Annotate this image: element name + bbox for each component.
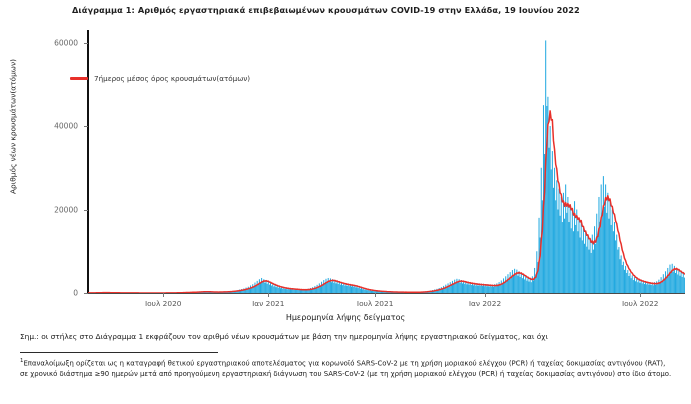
bar xyxy=(502,284,503,293)
bar xyxy=(347,286,348,293)
bar xyxy=(283,288,284,293)
bar xyxy=(526,281,527,293)
plot-canvas xyxy=(88,30,685,293)
x-tick-mark xyxy=(163,293,164,297)
bar xyxy=(578,218,579,293)
x-tick-label: Ιουλ 2021 xyxy=(357,299,394,308)
bar xyxy=(551,169,552,293)
bar xyxy=(588,250,589,293)
bar xyxy=(561,197,562,293)
bar xyxy=(484,286,485,293)
bar xyxy=(451,285,452,293)
bar xyxy=(514,269,515,293)
bar xyxy=(614,222,615,293)
x-axis-title: Ημερομηνία λήψης δείγματος xyxy=(0,313,691,322)
bar xyxy=(443,286,444,293)
bar xyxy=(527,278,528,293)
bar xyxy=(564,219,565,293)
bar xyxy=(594,226,595,293)
bar xyxy=(621,255,622,293)
bar xyxy=(640,283,641,293)
bar xyxy=(491,287,492,293)
bar xyxy=(671,272,672,293)
bar xyxy=(520,277,521,293)
bar xyxy=(368,290,369,293)
bar xyxy=(513,276,514,293)
bar xyxy=(565,184,566,293)
bar xyxy=(375,291,376,293)
y-tick-mark xyxy=(84,293,88,294)
bar xyxy=(319,283,320,293)
bar xyxy=(636,278,637,293)
bar xyxy=(465,281,466,293)
bar xyxy=(252,284,253,293)
bar xyxy=(624,270,625,293)
bar xyxy=(673,271,674,293)
bar xyxy=(365,289,366,293)
bar xyxy=(373,291,374,293)
bar xyxy=(289,289,290,293)
bar xyxy=(645,281,646,293)
bar xyxy=(321,282,322,293)
bar xyxy=(264,283,265,293)
bar xyxy=(554,168,555,293)
bar xyxy=(659,283,660,293)
bar xyxy=(277,286,278,293)
x-tick-label: Ιαν 2021 xyxy=(252,299,284,308)
bar xyxy=(262,282,263,293)
bar xyxy=(580,237,581,293)
bar xyxy=(644,284,645,293)
bar xyxy=(258,284,259,293)
bar xyxy=(506,281,507,293)
bar xyxy=(312,287,313,293)
bar xyxy=(647,282,648,293)
bar xyxy=(246,288,247,293)
bar xyxy=(628,276,629,293)
bar xyxy=(470,282,471,293)
bar xyxy=(361,288,362,293)
bar xyxy=(626,273,627,293)
bar xyxy=(616,235,617,293)
bar xyxy=(362,289,363,293)
bar xyxy=(658,280,659,293)
bar xyxy=(331,282,332,293)
bar xyxy=(622,265,623,293)
chart-title: Διάγραμμα 1: Αριθμός εργαστηριακά επιβεβ… xyxy=(72,5,612,15)
bar xyxy=(261,278,262,293)
bar xyxy=(666,277,667,293)
bar xyxy=(284,289,285,293)
legend-line-swatch xyxy=(70,77,88,79)
bar xyxy=(257,281,258,293)
y-tick-label: 20000 xyxy=(32,205,78,214)
bar xyxy=(250,285,251,293)
bar xyxy=(473,285,474,293)
bar xyxy=(620,259,621,293)
bar xyxy=(314,286,315,293)
bar xyxy=(511,278,512,293)
bar xyxy=(683,272,684,293)
bar xyxy=(507,274,508,293)
bar xyxy=(276,287,277,293)
bar xyxy=(504,282,505,293)
bar xyxy=(630,273,631,293)
bar xyxy=(664,279,665,293)
bar xyxy=(363,289,364,293)
footnote: 1Επαναλοίμωξη ορίζεται ως η καταγραφή θε… xyxy=(20,357,675,380)
bar xyxy=(560,216,561,293)
bar xyxy=(618,247,619,293)
bar xyxy=(482,286,483,293)
bar xyxy=(335,283,336,293)
bar xyxy=(567,197,568,293)
bar xyxy=(613,231,614,293)
bar xyxy=(357,286,358,293)
x-tick-label: Ιαν 2022 xyxy=(469,299,501,308)
bar xyxy=(351,287,352,293)
bar xyxy=(517,276,518,293)
bar xyxy=(456,279,457,293)
bar xyxy=(632,275,633,293)
bar xyxy=(296,290,297,293)
bar xyxy=(342,285,343,293)
bar xyxy=(338,284,339,293)
bar xyxy=(568,222,569,293)
bar xyxy=(337,281,338,293)
bar xyxy=(559,189,560,293)
bar xyxy=(475,286,476,293)
bar xyxy=(333,283,334,293)
bar xyxy=(462,283,463,293)
bar xyxy=(464,284,465,293)
bar xyxy=(612,210,613,293)
bar xyxy=(460,283,461,293)
covid-cases-chart-figure: Διάγραμμα 1: Αριθμός εργαστηριακά επιβεβ… xyxy=(0,0,691,330)
bar xyxy=(260,283,261,293)
bar xyxy=(662,281,663,293)
bar xyxy=(300,290,301,293)
bar xyxy=(633,280,634,293)
x-tick-mark xyxy=(485,293,486,297)
x-tick-label: Ιουλ 2020 xyxy=(145,299,182,308)
bar xyxy=(468,282,469,293)
bar xyxy=(279,287,280,293)
bar xyxy=(571,228,572,293)
bar xyxy=(651,285,652,293)
bar xyxy=(348,284,349,293)
bar xyxy=(539,218,540,293)
bar xyxy=(681,271,682,293)
bar xyxy=(445,285,446,293)
bar xyxy=(525,276,526,293)
bar xyxy=(367,290,368,293)
bar xyxy=(469,285,470,293)
bar xyxy=(587,235,588,293)
bar xyxy=(562,222,563,293)
bar xyxy=(248,287,249,293)
bar xyxy=(489,287,490,293)
bar xyxy=(471,285,472,293)
bar xyxy=(510,272,511,293)
bar xyxy=(282,289,283,293)
bar xyxy=(637,282,638,293)
x-tick-mark xyxy=(268,293,269,297)
bar xyxy=(458,282,459,293)
bar xyxy=(549,148,550,293)
bar xyxy=(601,184,602,293)
bar xyxy=(495,287,496,293)
footnote-text: Επαναλοίμωξη ορίζεται ως η καταγραφή θετ… xyxy=(20,359,671,378)
bar xyxy=(341,282,342,293)
bar xyxy=(278,288,279,293)
bar xyxy=(634,277,635,293)
bar xyxy=(676,268,677,293)
bar xyxy=(590,239,591,293)
bar xyxy=(267,284,268,293)
bar xyxy=(667,268,668,293)
bar xyxy=(273,286,274,293)
bar xyxy=(450,282,451,293)
bar xyxy=(635,281,636,293)
x-tick-mark xyxy=(640,293,641,297)
bar xyxy=(611,225,612,293)
bar xyxy=(287,289,288,293)
y-tick-label: 40000 xyxy=(32,122,78,131)
bar xyxy=(340,285,341,293)
footnote-divider xyxy=(20,352,218,353)
bar xyxy=(596,214,597,293)
bar xyxy=(531,282,532,293)
bar xyxy=(358,288,359,293)
bar xyxy=(604,207,605,293)
bar xyxy=(269,285,270,293)
daily-cases-bars xyxy=(88,40,685,293)
bar xyxy=(610,201,611,293)
bar xyxy=(466,284,467,293)
bar xyxy=(586,247,587,293)
bar xyxy=(323,280,324,293)
bar xyxy=(617,250,618,293)
bar xyxy=(529,282,530,293)
bar xyxy=(641,280,642,293)
y-tick-label: 0 xyxy=(32,289,78,298)
bar xyxy=(663,274,664,293)
bar xyxy=(653,285,654,293)
x-axis-line xyxy=(87,293,685,294)
plot-area xyxy=(88,30,685,293)
bar xyxy=(334,280,335,293)
bar xyxy=(271,286,272,293)
bar xyxy=(254,283,255,293)
bar xyxy=(598,197,599,293)
bar xyxy=(505,276,506,293)
bar xyxy=(327,282,328,293)
bar xyxy=(678,270,679,293)
bar xyxy=(477,286,478,293)
bar xyxy=(354,285,355,293)
bar xyxy=(553,188,554,293)
bar xyxy=(679,276,680,293)
bar xyxy=(325,279,326,293)
bar xyxy=(501,280,502,293)
bar xyxy=(566,213,567,293)
bar xyxy=(657,284,658,293)
bar xyxy=(615,240,616,293)
bar xyxy=(665,271,666,293)
bar xyxy=(649,282,650,293)
bar xyxy=(324,283,325,293)
bar xyxy=(343,283,344,293)
bar xyxy=(555,200,556,293)
bar xyxy=(642,283,643,293)
bar xyxy=(371,291,372,293)
bar xyxy=(500,285,501,293)
y-tick-label: 60000 xyxy=(32,38,78,47)
bar xyxy=(581,222,582,293)
bar xyxy=(600,222,601,293)
bar xyxy=(369,291,370,293)
bar xyxy=(519,271,520,293)
bar xyxy=(524,279,525,293)
bar xyxy=(602,213,603,293)
bar xyxy=(322,285,323,293)
bar xyxy=(497,286,498,293)
bar xyxy=(607,193,608,293)
bar xyxy=(521,273,522,293)
bar xyxy=(274,285,275,293)
bar xyxy=(668,274,669,293)
bar xyxy=(655,285,656,293)
bar xyxy=(593,250,594,293)
bar xyxy=(675,273,676,293)
bar xyxy=(661,277,662,293)
bar xyxy=(302,290,303,293)
bar xyxy=(591,253,592,293)
bar xyxy=(454,280,455,293)
bar xyxy=(577,231,578,293)
bar xyxy=(631,278,632,293)
bar xyxy=(608,219,609,293)
bar xyxy=(585,230,586,293)
bar xyxy=(298,290,299,293)
bar xyxy=(448,283,449,293)
bar xyxy=(672,264,673,293)
x-tick-label: Ιουλ 2022 xyxy=(622,299,659,308)
bar xyxy=(584,244,585,293)
bar xyxy=(530,278,531,293)
bar xyxy=(533,281,534,293)
bar xyxy=(534,268,535,293)
bar xyxy=(480,286,481,293)
bar xyxy=(503,278,504,293)
bar xyxy=(515,275,516,293)
bar xyxy=(576,210,577,293)
bar xyxy=(583,226,584,293)
bar xyxy=(556,180,557,293)
bar xyxy=(441,287,442,293)
bar xyxy=(291,290,292,293)
bar xyxy=(293,290,294,293)
bar xyxy=(328,278,329,293)
bar xyxy=(627,270,628,293)
bar xyxy=(573,231,574,293)
bar xyxy=(499,282,500,293)
bar xyxy=(349,286,350,293)
chart-note: Σημ.: οι στήλες στο Διάγραμμα 1 εκφράζου… xyxy=(20,332,680,341)
bar xyxy=(572,210,573,293)
bar xyxy=(364,290,365,293)
bar xyxy=(648,285,649,293)
bar xyxy=(677,274,678,293)
bar xyxy=(552,151,553,293)
bar xyxy=(557,210,558,293)
bar xyxy=(684,278,685,293)
bar xyxy=(625,266,626,293)
bar xyxy=(360,289,361,293)
bar xyxy=(563,193,564,293)
bar xyxy=(317,285,318,293)
bar xyxy=(623,262,624,293)
bar xyxy=(461,280,462,293)
bar xyxy=(339,282,340,293)
bar xyxy=(669,265,670,293)
bar xyxy=(493,287,494,293)
bar xyxy=(603,176,604,293)
bar xyxy=(522,278,523,293)
bar xyxy=(463,281,464,293)
bar xyxy=(509,279,510,293)
bar xyxy=(345,283,346,293)
bar xyxy=(344,286,345,293)
series-svg xyxy=(88,30,685,293)
bar xyxy=(329,282,330,293)
bar xyxy=(486,286,487,293)
bar xyxy=(638,279,639,293)
bar xyxy=(353,287,354,293)
bar xyxy=(646,284,647,293)
bar xyxy=(595,244,596,293)
y-axis-title: Αριθμός νέων κρουσμάτων(ατόμων) xyxy=(9,52,18,202)
bar xyxy=(643,281,644,293)
bar xyxy=(259,279,260,293)
bar xyxy=(682,277,683,293)
bar xyxy=(359,287,360,293)
bar xyxy=(512,270,513,293)
bar xyxy=(304,290,305,293)
bar xyxy=(355,287,356,293)
bar xyxy=(597,234,598,293)
bar xyxy=(453,284,454,293)
bar xyxy=(455,283,456,293)
bar xyxy=(452,281,453,293)
bar xyxy=(606,213,607,293)
x-tick-mark xyxy=(375,293,376,297)
bar xyxy=(270,283,271,293)
bar xyxy=(582,240,583,293)
bar xyxy=(332,279,333,293)
bar xyxy=(570,205,571,293)
bar xyxy=(575,225,576,293)
bar xyxy=(523,275,524,293)
bar xyxy=(266,280,267,293)
bar xyxy=(268,282,269,293)
bar xyxy=(280,288,281,293)
bar xyxy=(272,284,273,293)
bar xyxy=(281,287,282,293)
bar xyxy=(550,126,551,293)
